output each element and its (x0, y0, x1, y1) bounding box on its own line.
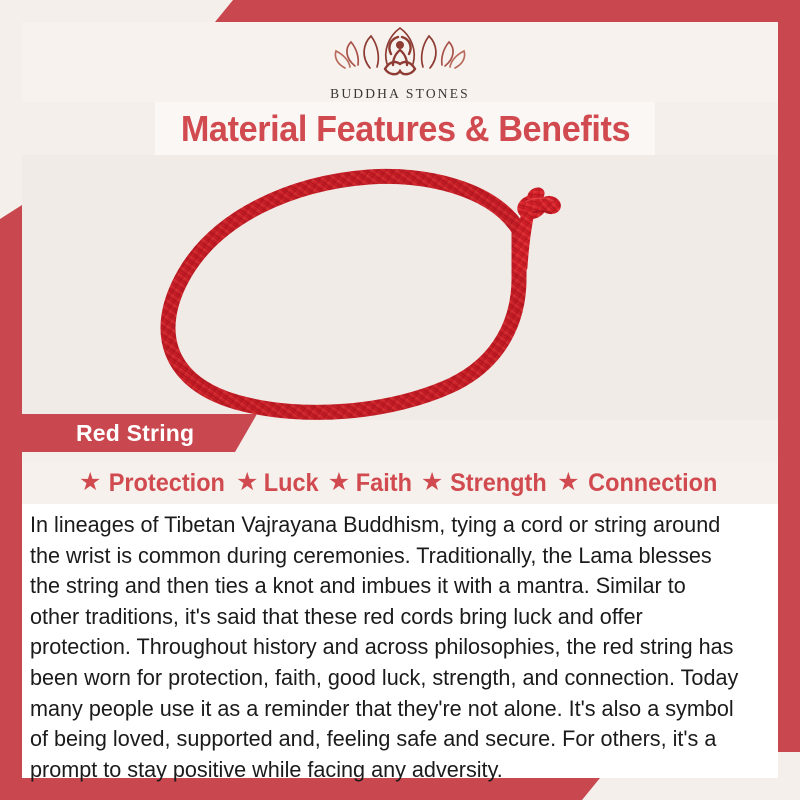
feature-item: ★ Luck (236, 469, 321, 498)
page-title: Material Features & Benefits (180, 108, 629, 150)
feature-label: Faith (356, 469, 412, 498)
infographic-card: BUDDHA STONES Material Features & Benefi… (0, 0, 800, 800)
description-panel: In lineages of Tibetan Vajrayana Buddhis… (22, 504, 778, 778)
star-icon: ★ (236, 470, 258, 495)
frame-band-left (0, 205, 22, 800)
brand-header: BUDDHA STONES (22, 22, 778, 102)
feature-item: ★ Protection (79, 469, 229, 498)
star-icon: ★ (557, 470, 579, 495)
feature-item: ★ Faith (328, 469, 414, 498)
feature-list: ★ Protection ★ Luck ★ Faith ★ Strength ★… (22, 462, 778, 504)
brand-name: BUDDHA STONES (330, 86, 470, 102)
brand-logo: BUDDHA STONES (325, 24, 475, 102)
feature-label: Strength (450, 469, 547, 498)
star-icon: ★ (421, 470, 443, 495)
feature-item: ★ Strength (421, 469, 550, 498)
frame-band-top (215, 0, 800, 22)
star-icon: ★ (328, 470, 350, 495)
description-paragraph: In lineages of Tibetan Vajrayana Buddhis… (30, 510, 738, 785)
title-banner: Material Features & Benefits (155, 102, 655, 155)
product-image-panel (22, 155, 778, 420)
red-string-bracelet-image (22, 155, 778, 420)
product-name-ribbon: Red String (22, 414, 257, 452)
frame-band-right (778, 0, 800, 752)
lotus-meditation-logo-icon (325, 24, 475, 84)
feature-label: Connection (588, 469, 717, 498)
feature-item: ★ Connection (557, 469, 721, 498)
star-icon: ★ (79, 470, 101, 495)
feature-label: Luck (264, 469, 319, 498)
product-name-label: Red String (76, 420, 194, 447)
feature-label: Protection (109, 469, 225, 498)
